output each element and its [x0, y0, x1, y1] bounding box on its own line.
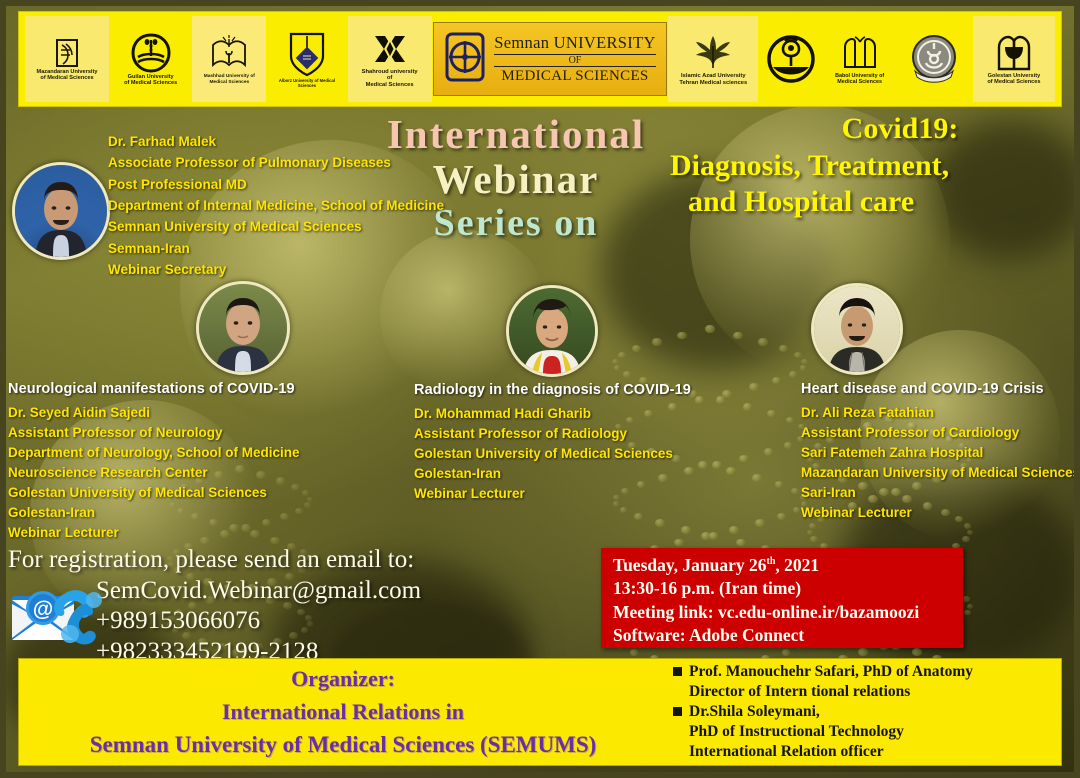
shahroud-university-icon [369, 30, 411, 68]
photo-seyed-aidin-sajedi [196, 281, 290, 375]
logo-army-medical-university [897, 16, 971, 102]
speaker-topic-heading: Radiology in the diagnosis of COVID-19 [414, 382, 691, 398]
logo-caption: Mazandaran Universityof Medical Sciences [37, 70, 98, 82]
speaker-topic-heading: Heart disease and COVID-19 Crisis [801, 381, 1080, 397]
photo-farhad-malek [12, 162, 110, 260]
official-row: Prof. Manouchehr Safari, PhD of Anatomy [673, 662, 1061, 682]
speaker-line: Dr. Seyed Aidin Sajedi [8, 403, 300, 423]
official-row: Dr.Shila Soleymani, [673, 702, 1061, 722]
logo-caption: Babol University ofMedical Sciences [835, 74, 884, 85]
webinar-poster: Mazandaran Universityof Medical Sciences… [0, 0, 1080, 778]
speaker-line: Assistant Professor of Radiology [414, 424, 691, 444]
speaker-line: Dr. Mohammad Hadi Gharib [414, 404, 691, 424]
speaker-line: Associate Professor of Pulmonary Disease… [108, 152, 444, 173]
speaker-line: Sari Fatemeh Zahra Hospital [801, 443, 1080, 463]
logo-mazandaran-university: Mazandaran Universityof Medical Sciences [25, 16, 109, 102]
officials-block: Prof. Manouchehr Safari, PhD of Anatomy … [667, 659, 1061, 765]
guilan-university-icon [129, 32, 173, 74]
speaker-block-ali-reza-fatahian: Heart disease and COVID-19 Crisis Dr. Al… [801, 381, 1080, 523]
speaker-block-seyed-aidin-sajedi: Neurological manifestations of COVID-19 … [8, 381, 300, 543]
logo-caption: Islamic Azad UniversityTehran Medical sc… [679, 73, 747, 85]
logo-caption: Guilan Universityof Medical Sciences [124, 75, 177, 87]
speaker-line: Sari-Iran [801, 483, 1080, 503]
speaker-block-farhad-malek: Dr. Farhad Malek Associate Professor of … [108, 131, 444, 280]
organizer-line2: International Relations in [222, 699, 464, 725]
speaker-line: Golestan University of Medical Sciences [414, 444, 691, 464]
speaker-line: Webinar Secretary [108, 259, 444, 280]
army-medical-university-icon [907, 33, 961, 85]
speaker-line: Semnan-Iran [108, 238, 444, 259]
speaker-line: Assistant Professor of Cardiology [801, 423, 1080, 443]
speaker-line: Post Professional MD [108, 174, 444, 195]
speaker-line: Webinar Lecturer [414, 484, 691, 504]
speaker-line: Webinar Lecturer [801, 503, 1080, 523]
logo-babol-university: Babol University ofMedical Sciences [824, 16, 896, 102]
logo-shahroud-university: Shahroud universityofMedical Sciences [348, 16, 432, 102]
photo-mohammad-hadi-gharib [506, 285, 598, 377]
official-row: PhD of Instructional Technology [673, 722, 1061, 742]
logo-golestan-university: Golestan Universityof Medical Sciences [973, 16, 1055, 102]
svg-text:@: @ [33, 598, 53, 621]
logo-caption: Shahroud universityofMedical Sciences [362, 69, 418, 87]
mazandaran-university-icon [53, 37, 81, 69]
event-date: Tuesday, January 26th, 2021 [613, 554, 963, 577]
official-role-2b: International Relation officer [689, 742, 884, 762]
logo-caption: Alborz University of Medical Sciences [270, 79, 344, 88]
event-software: Software: Adobe Connect [613, 624, 963, 647]
title-line-diagnosis-treatment: Diagnosis, Treatment, [660, 151, 1080, 182]
registration-intro: For registration, please send an email t… [8, 545, 568, 576]
official-row: International Relation officer [673, 742, 1061, 762]
speaker-line: Dr. Farhad Malek [108, 131, 444, 152]
logo-guilan-university: Guilan Universityof Medical Sciences [111, 16, 191, 102]
organizer-block: Organizer: International Relations in Se… [19, 659, 667, 765]
official-role-2a: PhD of Instructional Technology [689, 722, 904, 742]
speaker-block-mohammad-hadi-gharib: Radiology in the diagnosis of COVID-19 D… [414, 382, 691, 504]
speaker-line: Golestan-Iran [8, 503, 300, 523]
logo-mashhad-university: Mashhad University ofMedical Sciences [192, 16, 266, 102]
speaker-line: Semnan University of Medical Sciences [108, 216, 444, 237]
babol-university-icon [840, 33, 880, 73]
official-role-1: Director of Intern tional relations [689, 682, 910, 702]
speaker-line: Golestan-Iran [414, 464, 691, 484]
iran-university-icon [765, 33, 817, 85]
official-name-2: Dr.Shila Soleymani, [689, 702, 820, 722]
photo-ali-reza-fatahian [811, 283, 903, 375]
mashhad-university-icon [209, 33, 249, 73]
logo-caption: Mashhad University ofMedical Sciences [204, 74, 255, 84]
event-meeting-link[interactable]: Meeting link: vc.edu-online.ir/bazamoozi [613, 601, 963, 624]
page-title-right: Covid19: Diagnosis, Treatment, and Hospi… [660, 114, 1080, 218]
islamic-azad-university-icon [690, 32, 736, 72]
speaker-topic-heading: Neurological manifestations of COVID-19 [8, 381, 300, 397]
organizer-line3: Semnan University of Medical Sciences (S… [90, 732, 597, 758]
alborz-university-icon [285, 30, 329, 78]
semnan-logo-line3: MEDICAL SCIENCES [501, 68, 648, 85]
golestan-university-icon [993, 33, 1035, 73]
logo-islamic-azad-university: Islamic Azad UniversityTehran Medical sc… [668, 16, 758, 102]
speaker-line: Department of Internal Medicine, School … [108, 195, 444, 216]
bullet-square-icon [673, 667, 682, 676]
event-time: 13:30-16 p.m. (Iran time) [613, 577, 963, 600]
title-line-hospital-care: and Hospital care [660, 187, 1080, 218]
bullet-square-icon [673, 707, 682, 716]
speaker-line: Golestan University of Medical Sciences [8, 483, 300, 503]
footer-bar: Organizer: International Relations in Se… [18, 658, 1062, 766]
logo-caption: Golestan Universityof Medical Sciences [987, 74, 1040, 86]
speaker-line: Neuroscience Research Center [8, 463, 300, 483]
speaker-line: Mazandaran University of Medical Science… [801, 463, 1080, 483]
official-row: Director of Intern tional relations [673, 682, 1061, 702]
title-line-covid19: Covid19: [660, 114, 1080, 145]
organizer-label: Organizer: [291, 666, 395, 692]
speaker-line: Assistant Professor of Neurology [8, 423, 300, 443]
university-logos-bar: Mazandaran Universityof Medical Sciences… [18, 11, 1062, 107]
semnan-university-icon [444, 31, 486, 88]
semnan-logo-line2: OF [494, 54, 655, 67]
official-name-1: Prof. Manouchehr Safari, PhD of Anatomy [689, 662, 973, 682]
speaker-line: Webinar Lecturer [8, 523, 300, 543]
semnan-logo-line1: Semnan UNIVERSITY [494, 33, 655, 53]
speaker-line: Department of Neurology, School of Medic… [8, 443, 300, 463]
event-details-box: Tuesday, January 26th, 2021 13:30-16 p.m… [601, 548, 963, 648]
logo-semnan-university: Semnan UNIVERSITY OF MEDICAL SCIENCES [433, 22, 666, 96]
logo-iran-university [760, 16, 822, 102]
logo-alborz-university: Alborz University of Medical Sciences [268, 16, 346, 102]
contact-icons: @ [8, 578, 104, 650]
speaker-line: Dr. Ali Reza Fatahian [801, 403, 1080, 423]
